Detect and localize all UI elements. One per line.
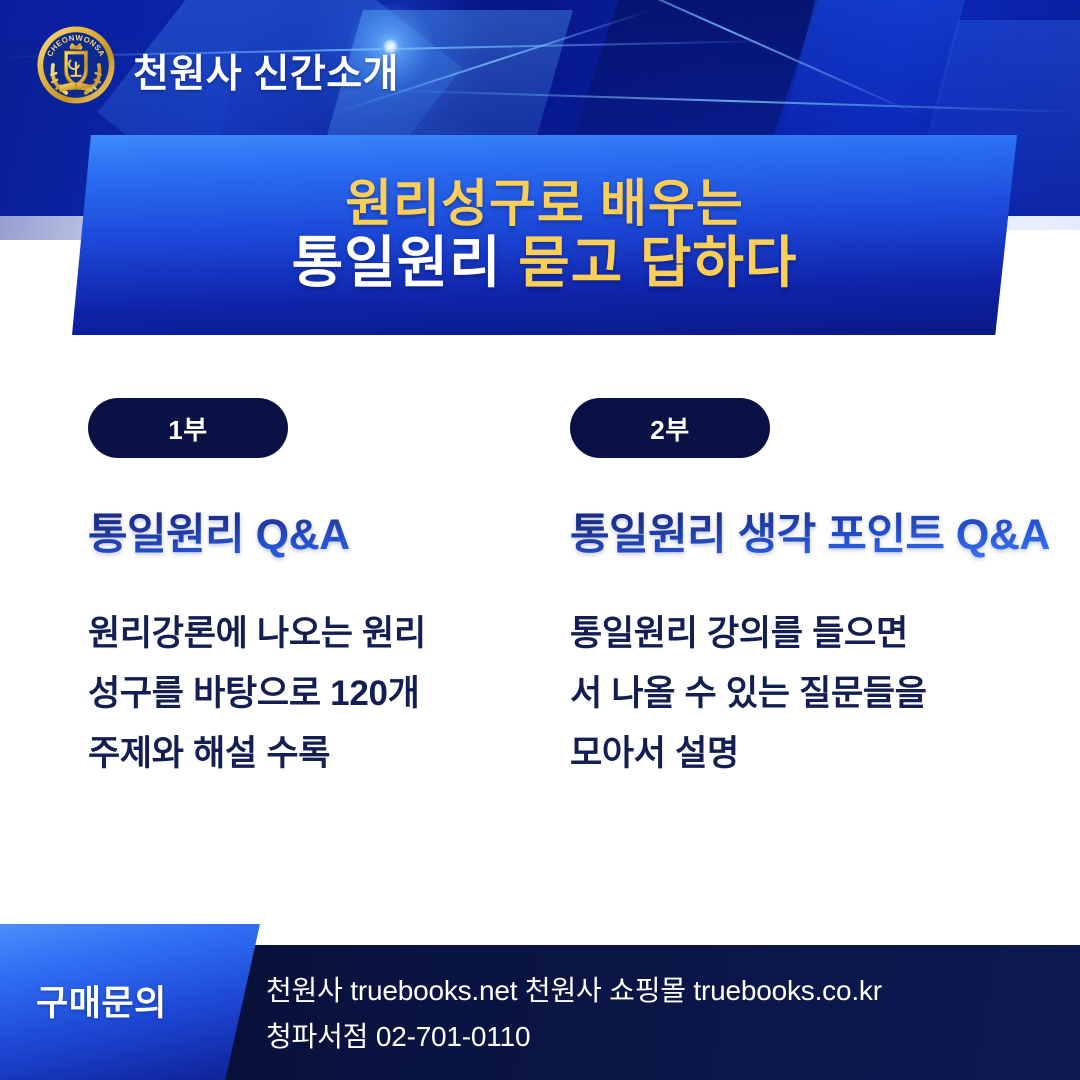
banner-title: 통일원리 묻고 답하다 [292, 234, 798, 293]
footer-contact-websites[interactable]: 천원사 truebooks.net 천원사 쇼핑몰 truebooks.co.k… [266, 968, 882, 1014]
badge-part-1: 1부 [88, 398, 288, 458]
header-accent-line [538, 0, 922, 117]
footer-contact: 천원사 truebooks.net 천원사 쇼핑몰 truebooks.co.k… [266, 968, 882, 1060]
poster-canvas: CHEONWONSA 천원사 신간소개 원리성구로 배우는 통일원리 묻고 답하… [0, 0, 1080, 1080]
section-part-2: 2부 통일원리 생각 포인트 Q&A 통일원리 강의를 들으면 서 나올 수 있… [570, 398, 1070, 785]
header-decor-shape [778, 0, 973, 150]
banner-title-primary: 통일원리 [292, 231, 502, 294]
body-line: 성구를 바탕으로 120개 [88, 664, 558, 724]
header-title: 천원사 신간소개 [133, 43, 399, 99]
footer-contact-phone[interactable]: 청파서점 02-701-0110 [266, 1014, 882, 1060]
body-part-2: 통일원리 강의를 들으면 서 나올 수 있는 질문들을 모아서 설명 [570, 604, 1070, 785]
header-accent-line [380, 89, 1080, 112]
heading-part-2: 통일원리 생각 포인트 Q&A [570, 500, 1070, 562]
banner-title-accent: 묻고 답하다 [518, 231, 797, 294]
badge-part-2: 2부 [570, 398, 770, 458]
body-line: 서 나올 수 있는 질문들을 [570, 664, 1070, 724]
body-line: 주제와 해설 수록 [88, 724, 558, 784]
body-line: 원리강론에 나오는 원리 [88, 604, 558, 664]
footer-label: 구매문의 [36, 975, 167, 1026]
cheonwonsa-crest-icon: CHEONWONSA [35, 24, 117, 106]
body-line: 통일원리 강의를 들으면 [570, 604, 1070, 664]
body-line: 모아서 설명 [570, 724, 1070, 784]
banner-subtitle: 원리성구로 배우는 [345, 177, 744, 231]
section-part-1: 1부 통일원리 Q&A 원리강론에 나오는 원리 성구를 바탕으로 120개 주… [88, 398, 558, 785]
heading-part-1: 통일원리 Q&A [88, 500, 558, 562]
body-part-1: 원리강론에 나오는 원리 성구를 바탕으로 120개 주제와 해설 수록 [88, 604, 558, 785]
main-title-banner-content: 원리성구로 배우는 통일원리 묻고 답하다 [72, 135, 1017, 335]
